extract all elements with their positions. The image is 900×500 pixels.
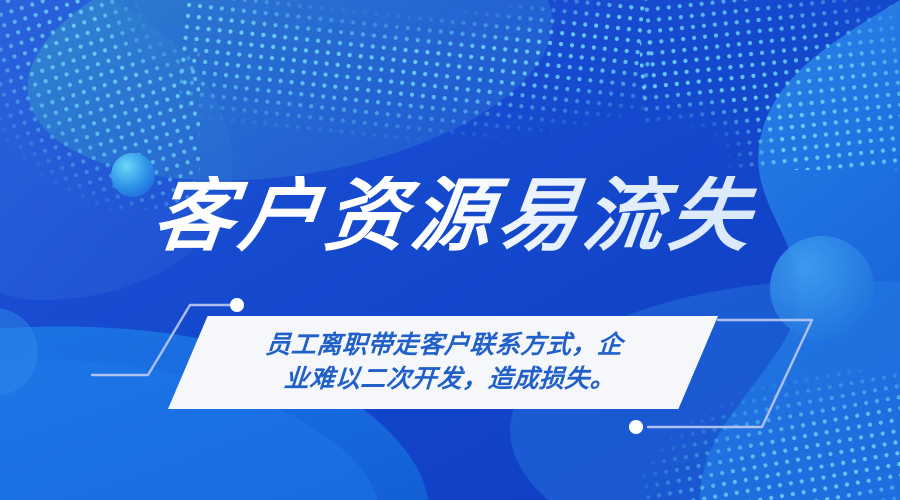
subtitle-line-1: 员工离职带走客户联系方式，企 — [208, 329, 680, 363]
background-artwork — [0, 0, 900, 500]
halftone-top-right — [564, 0, 900, 271]
connector-right-dot — [629, 420, 643, 434]
connector-left-dot — [230, 298, 244, 312]
subtitle-text: 员工离职带走客户联系方式，企 业难以二次开发，造成损失。 — [206, 329, 681, 396]
subtitle-line-2: 业难以二次开发，造成损失。 — [206, 363, 678, 397]
promo-banner: 客户资源易流失 员工离职带走客户联系方式，企 业难以二次开发，造成损失。 — [0, 0, 900, 500]
decor-circle-title — [111, 153, 155, 197]
subtitle-panel: 员工离职带走客户联系方式，企 业难以二次开发，造成损失。 — [168, 316, 718, 409]
